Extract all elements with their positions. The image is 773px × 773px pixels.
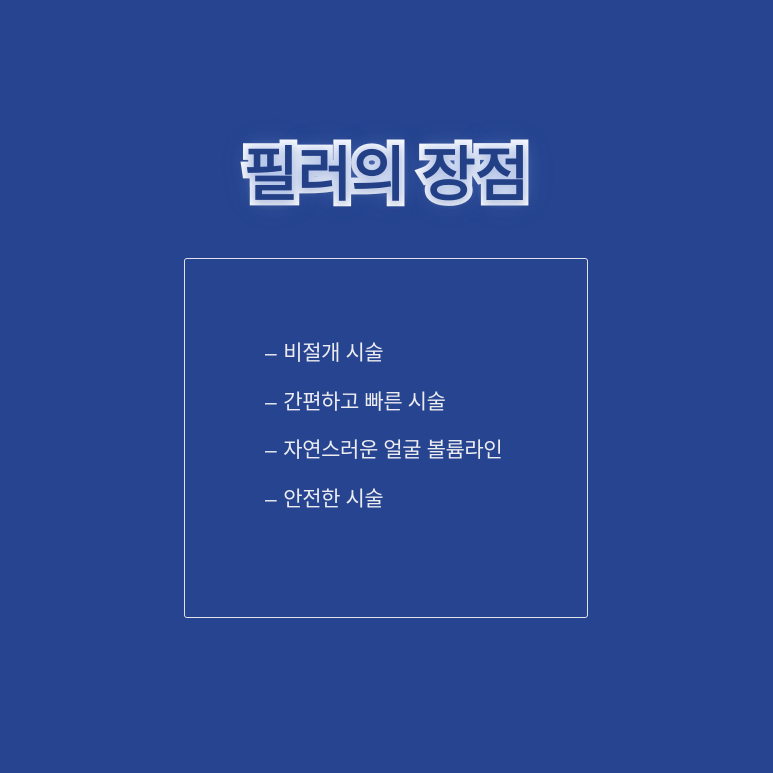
list-item: – 안전한 시술	[265, 489, 502, 538]
list-item: – 비절개 시술	[265, 343, 502, 392]
list-item: – 자연스러운 얼굴 볼륨라인	[265, 440, 502, 489]
list-item: – 간편하고 빠른 시술	[265, 392, 502, 441]
page-title-container: 필러의 장점	[0, 133, 773, 217]
bullet-dash-icon: –	[265, 343, 276, 364]
list-item-label: 자연스러운 얼굴 볼륨라인	[283, 440, 502, 461]
list-item-label: 비절개 시술	[283, 343, 383, 364]
bullet-dash-icon: –	[265, 392, 276, 413]
list-item-label: 안전한 시술	[283, 489, 383, 510]
list-item-label: 간편하고 빠른 시술	[283, 392, 445, 413]
bullet-dash-icon: –	[265, 440, 276, 461]
page-title: 필러의 장점	[244, 146, 529, 205]
slide-canvas: 필러의 장점 – 비절개 시술 – 간편하고 빠른 시술 – 자연스러운 얼굴 …	[0, 0, 773, 773]
bullet-dash-icon: –	[265, 489, 276, 510]
benefits-box: – 비절개 시술 – 간편하고 빠른 시술 – 자연스러운 얼굴 볼륨라인 – …	[184, 258, 588, 618]
benefits-list: – 비절개 시술 – 간편하고 빠른 시술 – 자연스러운 얼굴 볼륨라인 – …	[265, 343, 502, 537]
